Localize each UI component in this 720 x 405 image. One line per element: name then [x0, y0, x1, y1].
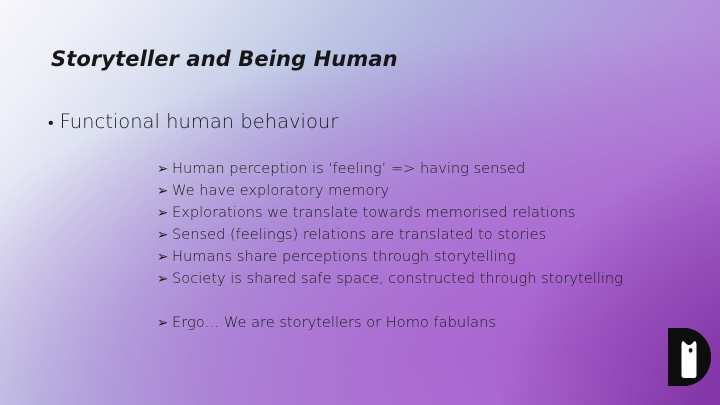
list-item-label: Society is shared safe space, constructe…	[172, 268, 657, 290]
bullet-dot-icon: •	[48, 111, 54, 135]
list-item: ➢ Explorations we translate towards memo…	[157, 202, 657, 224]
list-item-label: Humans share perceptions through storyte…	[172, 246, 657, 268]
arrowhead-bullet-icon: ➢	[157, 202, 172, 224]
arrowhead-bullet-icon: ➢	[157, 180, 172, 202]
arrowhead-bullet-icon: ➢	[157, 312, 172, 334]
sub-bullet-list: ➢ Human perception is ‘feeling’ => havin…	[157, 158, 657, 334]
list-item: ➢ We have exploratory memory	[157, 180, 657, 202]
arrowhead-bullet-icon: ➢	[157, 224, 172, 246]
slide-title: Storyteller and Being Human	[51, 46, 398, 72]
arrowhead-bullet-icon: ➢	[157, 246, 172, 268]
list-item: ➢ Sensed (feelings) relations are transl…	[157, 224, 657, 246]
black-d-with-white-cat-logo	[662, 325, 716, 387]
level1-bullet-label: Functional human behaviour	[60, 110, 339, 134]
arrowhead-bullet-icon: ➢	[157, 158, 172, 180]
list-item-label: Ergo… We are storytellers or Homo fabula…	[172, 312, 657, 334]
list-item-label: We have exploratory memory	[172, 180, 657, 202]
arrowhead-bullet-icon: ➢	[157, 268, 172, 290]
list-item-final: ➢ Ergo… We are storytellers or Homo fabu…	[157, 312, 657, 334]
list-item-label: Sensed (feelings) relations are translat…	[172, 224, 657, 246]
list-item: ➢ Society is shared safe space, construc…	[157, 268, 657, 290]
list-item: ➢ Humans share perceptions through story…	[157, 246, 657, 268]
list-item-label: Explorations we translate towards memori…	[172, 202, 657, 224]
list-item-label: Human perception is ‘feeling’ => having …	[172, 158, 657, 180]
slide-canvas: Storyteller and Being Human • Functional…	[0, 0, 720, 405]
list-spacer	[157, 290, 657, 312]
list-item: ➢ Human perception is ‘feeling’ => havin…	[157, 158, 657, 180]
level1-bullet: • Functional human behaviour	[48, 110, 338, 135]
